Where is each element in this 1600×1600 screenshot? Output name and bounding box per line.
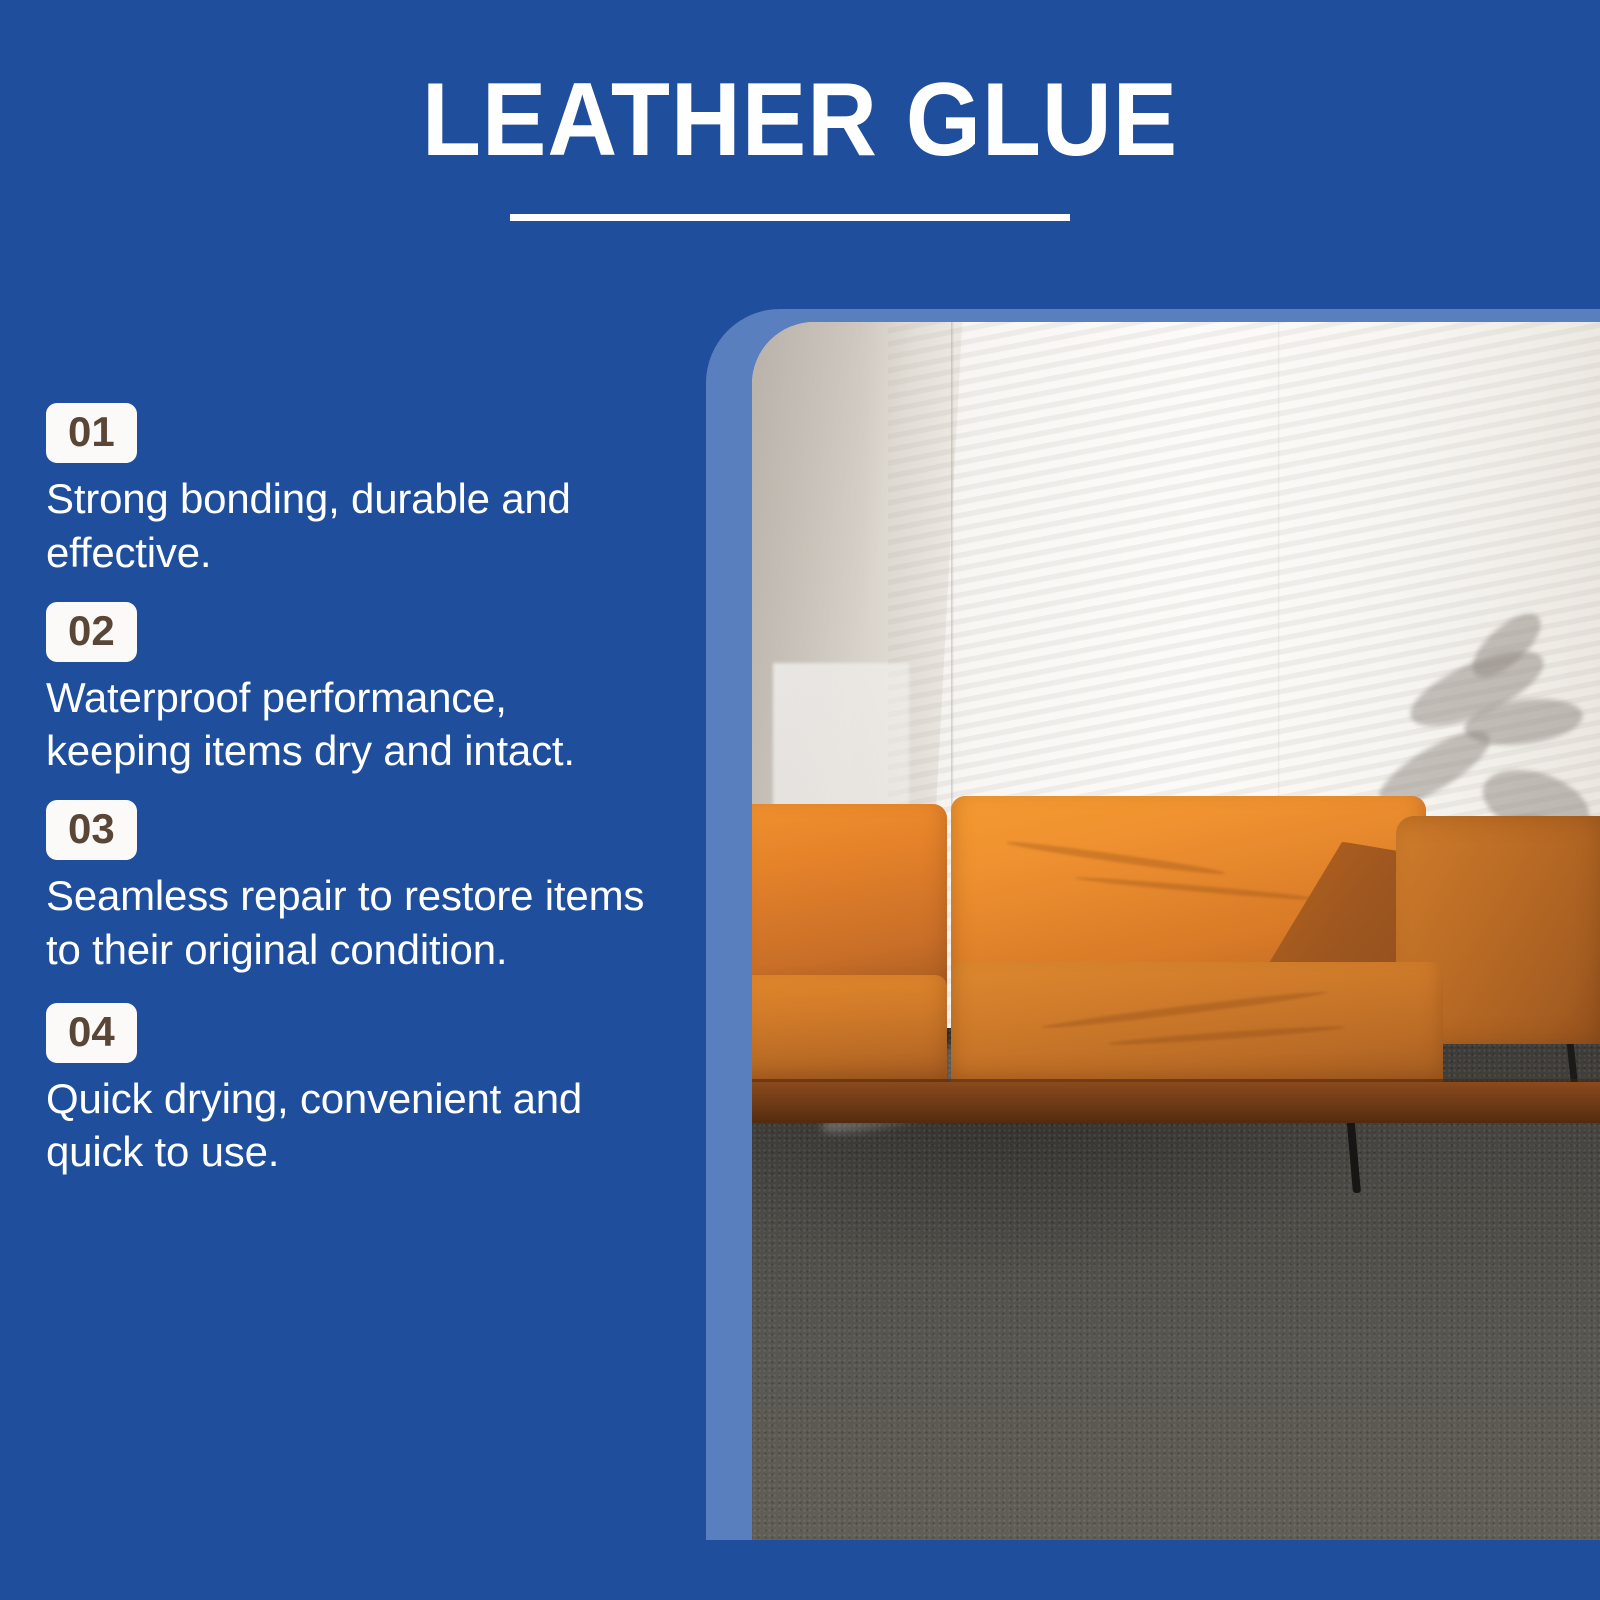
feature-list: 01 Strong bonding, durable and effective… — [46, 403, 666, 1193]
list-item: 02 Waterproof performance, keeping items… — [46, 602, 666, 779]
feature-number-badge: 03 — [46, 800, 137, 860]
photo-sofa-seat-cushion — [951, 962, 1443, 1089]
poster-canvas: LEATHER GLUE 01 Strong bonding, durable … — [0, 0, 1600, 1600]
list-item: 03 Seamless repair to restore items to t… — [46, 800, 666, 977]
page-title: LEATHER GLUE — [56, 64, 1544, 176]
feature-number-badge: 02 — [46, 602, 137, 662]
feature-description: Waterproof performance, keeping items dr… — [46, 671, 646, 779]
photo-sofa-back-cushion — [752, 804, 947, 1000]
photo-leather-sofa — [752, 791, 1600, 1108]
product-photo — [752, 322, 1600, 1540]
feature-number-badge: 04 — [46, 1003, 137, 1063]
feature-description: Strong bonding, durable and effective. — [46, 472, 646, 580]
photo-sofa-seat-cushion — [752, 975, 947, 1089]
title-block: LEATHER GLUE — [0, 64, 1600, 176]
title-underline-rule — [510, 214, 1070, 221]
feature-description: Seamless repair to restore items to thei… — [46, 869, 646, 977]
feature-number-badge: 01 — [46, 403, 137, 463]
list-item: 04 Quick drying, convenient and quick to… — [46, 1003, 666, 1180]
feature-description: Quick drying, convenient and quick to us… — [46, 1072, 646, 1180]
photo-sofa-base — [752, 1082, 1600, 1123]
list-item: 01 Strong bonding, durable and effective… — [46, 403, 666, 580]
